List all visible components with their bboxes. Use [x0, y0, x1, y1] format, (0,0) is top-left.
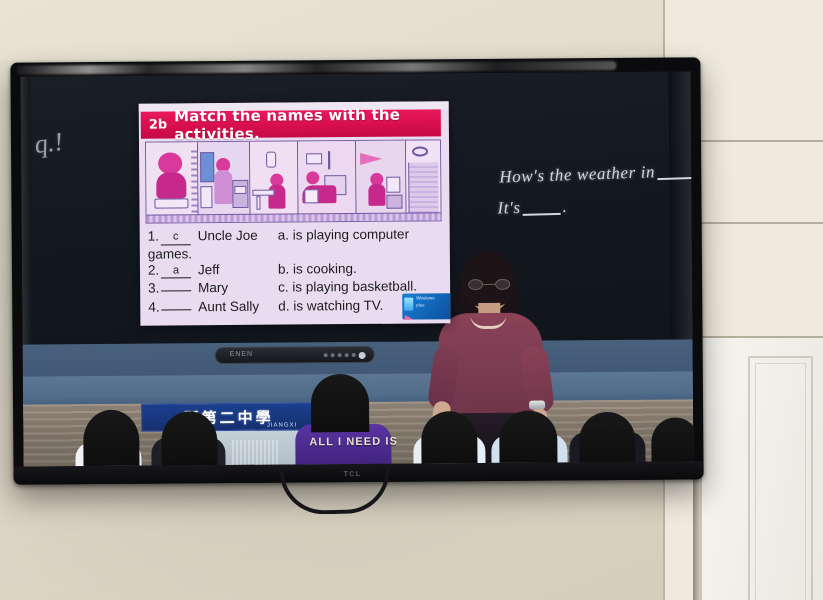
chalk-period: .	[562, 197, 567, 216]
row-4-answer-blank[interactable]	[161, 309, 191, 310]
slide-illustration	[145, 139, 442, 223]
illustration-panel-boy-laptop	[146, 142, 199, 222]
student-shirt-text: ALL I NEED IS	[309, 436, 398, 449]
chalk-blank-2	[523, 213, 561, 216]
tv-screen: q.! How's the weather in It's. ENEN	[20, 71, 693, 466]
row-1-number: 1.	[148, 228, 161, 246]
control-panel-label: ENEN	[230, 351, 254, 358]
chalk-scribble: q.!	[35, 127, 64, 160]
exercise-row-3: 3. Mary c. is playing basketball.	[148, 278, 444, 298]
watermark-chip-icon	[404, 298, 413, 311]
row-4-name: Aunt Sally	[198, 297, 259, 316]
exercise-row-1: 1. c Uncle Joe a. is playing computer	[148, 225, 444, 246]
option-a-line1: a. is playing computer	[278, 225, 444, 244]
door-right[interactable]	[700, 338, 823, 600]
student-head-5	[499, 410, 557, 466]
chalk-answer-text: It's	[497, 198, 521, 218]
wall-mounted-tv[interactable]: q.! How's the weather in It's. ENEN	[10, 57, 703, 484]
student-head-1	[83, 410, 139, 467]
row-2-number: 2.	[148, 261, 161, 279]
student-head-7	[651, 417, 693, 466]
row-2-name: Jeff	[198, 261, 220, 279]
illustration-panel-kitchen	[198, 142, 251, 222]
student-head-3	[311, 374, 369, 432]
projector-control-panel: ENEN	[215, 346, 375, 364]
blackboard-frame-left	[20, 77, 32, 345]
row-3-number: 3.	[148, 280, 161, 298]
option-b: b. is cooking.	[278, 259, 444, 278]
chalk-blank-1	[657, 177, 693, 180]
illustration-floor	[147, 212, 442, 222]
exercise-row-2: 2. a Jeff b. is cooking.	[148, 259, 444, 280]
student-head-6	[579, 412, 635, 467]
podium-logo	[232, 440, 278, 467]
row-4-number: 4.	[148, 298, 161, 316]
illustration-panel-bedroom-computer	[356, 141, 407, 221]
classroom-video-scene: q.! How's the weather in It's. ENEN	[20, 71, 693, 466]
row-2-answer-blank[interactable]: a	[161, 263, 191, 279]
illustration-panel-living-room-tv	[298, 141, 357, 221]
matching-exercise: 1. c Uncle Joe a. is playing computer ga…	[148, 225, 445, 316]
chalk-line-answer: It's.	[497, 197, 567, 219]
slide-title-banner: 2b Match the names with the activities.	[141, 109, 441, 138]
slide-title: Match the names with the activities.	[174, 105, 441, 143]
chalk-question-text: How's the weather in	[499, 162, 655, 186]
chalk-line-question: How's the weather in	[499, 161, 694, 188]
door-panel-molding-inner	[755, 363, 806, 600]
software-watermark: Windows plus	[402, 293, 450, 319]
control-panel-dots	[324, 353, 366, 359]
slide-exercise-number: 2b	[149, 117, 167, 132]
row-1-answer-blank[interactable]: c	[161, 229, 191, 245]
illustration-panel-dining	[250, 141, 299, 221]
blackboard-frame-right	[668, 71, 692, 339]
row-3-name: Mary	[198, 279, 228, 297]
illustration-panel-basketball	[406, 140, 441, 220]
school-banner-subtext: JIANGXI	[267, 422, 297, 428]
student-head-4	[421, 411, 477, 467]
watermark-line2: plus	[416, 302, 450, 309]
student-head-2	[161, 411, 217, 467]
row-3-answer-blank[interactable]	[161, 291, 191, 292]
teacher-glasses	[468, 279, 510, 290]
exercise-row-4: 4. Aunt Sally d. is watching TV.	[148, 296, 444, 316]
powerpoint-slide: 2b Match the names with the activities.	[139, 101, 451, 325]
watermark-cursor-icon	[402, 312, 418, 320]
row-1-name: Uncle Joe	[198, 227, 258, 246]
